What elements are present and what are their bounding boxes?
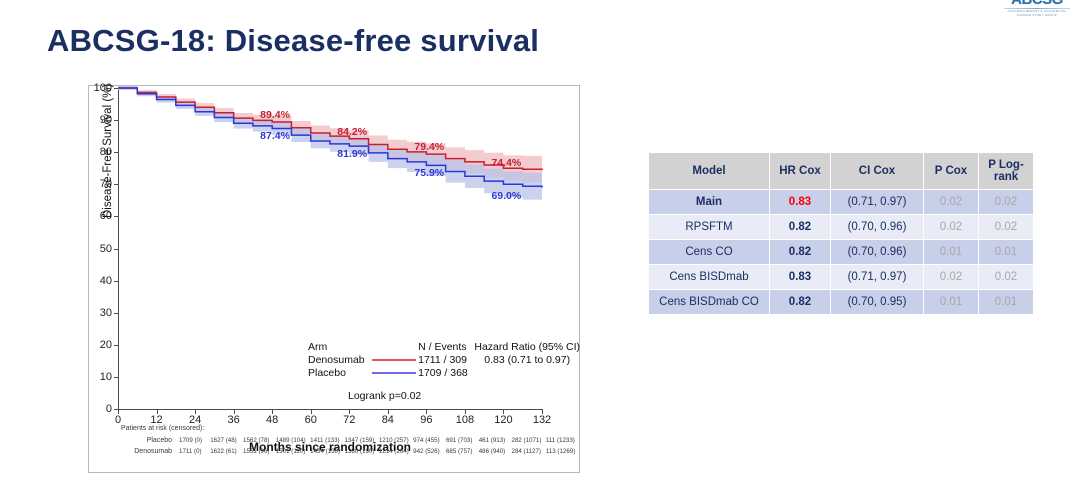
results-cell-hr: 0.83 <box>770 190 831 215</box>
results-cell-model: RPSFTM <box>649 215 770 240</box>
results-cell-hr: 0.82 <box>770 290 831 315</box>
x-tick-mark <box>465 409 466 414</box>
x-tick-mark <box>234 409 235 414</box>
results-header-cell: P Log-rank <box>979 153 1034 190</box>
results-cell-p-cox: 0.02 <box>924 190 979 215</box>
y-tick-mark <box>114 377 118 378</box>
y-tick-mark <box>114 281 118 282</box>
legend-header-arm: Arm <box>308 341 370 354</box>
logo-subtitle-line2: CANCER STUDY GROUP <box>1002 14 1072 17</box>
results-cell-p-logrank: 0.02 <box>979 265 1034 290</box>
results-header-cell: Model <box>649 153 770 190</box>
results-cell-hr: 0.83 <box>770 265 831 290</box>
risk-value: 1214 (264) <box>379 447 413 458</box>
results-cell-p-logrank: 0.02 <box>979 215 1034 240</box>
risk-row-label: Denosumab <box>121 447 179 458</box>
curve-annotation: 79.4% <box>414 141 444 153</box>
km-chart-panel: 0102030405060708090100 01224364860728496… <box>88 85 580 473</box>
y-tick-label: 0 <box>106 403 112 415</box>
x-tick-mark <box>195 409 196 414</box>
y-tick-mark <box>114 152 118 153</box>
risk-value: 1562 (78) <box>243 436 276 447</box>
results-header-cell: P Cox <box>924 153 979 190</box>
results-cell-p-cox: 0.02 <box>924 215 979 240</box>
risk-value: 974 (455) <box>413 436 446 447</box>
legend-label-placebo: Placebo <box>308 367 370 380</box>
risk-row-label: Placebo <box>121 436 179 447</box>
legend-header-swatch <box>370 341 418 354</box>
risk-value: 1434 (136) <box>310 447 344 458</box>
curve-annotation: 74.4% <box>491 157 521 169</box>
legend-n-placebo: 1709 / 368 <box>418 367 474 380</box>
legend-n-denosumab: 1711 / 309 <box>418 354 474 367</box>
risk-value: 1380 (190) <box>344 447 378 458</box>
risk-value: 1709 (0) <box>179 436 210 447</box>
x-tick-mark <box>503 409 504 414</box>
results-cell-p-logrank: 0.01 <box>979 240 1034 265</box>
risk-value: 461 (913) <box>479 436 512 447</box>
risk-value: 111 (1233) <box>546 436 580 447</box>
results-cell-ci: (0.70, 0.96) <box>831 240 924 265</box>
results-cell-hr: 0.82 <box>770 240 831 265</box>
curve-annotation: 81.9% <box>337 148 367 160</box>
patients-at-risk-table: Patients at risk (censored): Placebo1709… <box>121 424 580 458</box>
legend-hr-denosumab: 0.83 (0.71 to 0.97) <box>474 354 580 367</box>
results-table-body: Main0.83(0.71, 0.97)0.020.02RPSFTM0.82(0… <box>649 190 1034 315</box>
results-cell-model: Main <box>649 190 770 215</box>
results-cell-p-cox: 0.01 <box>924 240 979 265</box>
logrank-pvalue: Logrank p=0.02 <box>348 390 421 402</box>
curve-annotation: 84.2% <box>337 126 367 138</box>
risk-value: 1622 (61) <box>210 447 243 458</box>
risk-value: 1627 (48) <box>210 436 243 447</box>
risk-value: 691 (703) <box>446 436 479 447</box>
legend-header-n-events: N / Events <box>418 341 474 354</box>
legend-row-denosumab: Denosumab 1711 / 309 0.83 (0.71 to 0.97) <box>308 354 580 367</box>
risk-value: 113 (1269) <box>546 447 580 458</box>
x-tick-mark <box>118 409 119 414</box>
risk-value: 1411 (133) <box>310 436 344 447</box>
results-row: Cens BISDmab0.83(0.71, 0.97)0.020.02 <box>649 265 1034 290</box>
legend-swatch-placebo <box>370 367 418 380</box>
risk-value: 1347 (159) <box>344 436 378 447</box>
results-row: RPSFTM0.82(0.70, 0.96)0.020.02 <box>649 215 1034 240</box>
x-tick-mark <box>272 409 273 414</box>
results-cell-model: Cens BISDmab <box>649 265 770 290</box>
legend-label-denosumab: Denosumab <box>308 354 370 367</box>
legend-row-placebo: Placebo 1709 / 368 <box>308 367 580 380</box>
results-cell-ci: (0.70, 0.96) <box>831 215 924 240</box>
y-tick-label: 40 <box>100 275 112 287</box>
results-header-cell: CI Cox <box>831 153 924 190</box>
results-cell-p-logrank: 0.01 <box>979 290 1034 315</box>
risk-value: 486 (940) <box>479 447 512 458</box>
y-tick-mark <box>114 345 118 346</box>
results-cell-model: Cens BISDmab CO <box>649 290 770 315</box>
patients-at-risk-title: Patients at risk (censored): <box>121 424 580 435</box>
risk-value: 1501 (110) <box>276 447 310 458</box>
y-tick-mark <box>114 120 118 121</box>
results-cell-ci: (0.71, 0.97) <box>831 265 924 290</box>
y-tick-mark <box>114 216 118 217</box>
chart-legend: Arm N / Events Hazard Ratio (95% CI) Den… <box>308 341 580 380</box>
curve-annotation: 89.4% <box>260 109 290 121</box>
risk-value: 1711 (0) <box>179 447 210 458</box>
risk-value: 685 (757) <box>446 447 479 458</box>
y-tick-mark <box>114 249 118 250</box>
results-cell-p-logrank: 0.02 <box>979 190 1034 215</box>
results-cell-hr: 0.82 <box>770 215 831 240</box>
curve-annotation: 69.0% <box>491 190 521 202</box>
y-tick-mark <box>114 313 118 314</box>
results-cell-p-cox: 0.02 <box>924 265 979 290</box>
y-tick-label: 10 <box>100 371 112 383</box>
y-tick-label: 30 <box>100 307 112 319</box>
x-tick-mark <box>426 409 427 414</box>
y-tick-mark <box>114 184 118 185</box>
risk-value: 1489 (104) <box>276 436 310 447</box>
results-cell-model: Cens CO <box>649 240 770 265</box>
plot-area: 0102030405060708090100 01224364860728496… <box>118 88 580 416</box>
y-tick-label: 50 <box>100 243 112 255</box>
legend-swatch-denosumab <box>370 354 418 367</box>
risk-value: 1210 (257) <box>379 436 413 447</box>
curve-annotation: 75.9% <box>414 167 444 179</box>
risk-value: 282 (1071) <box>512 436 546 447</box>
results-cell-p-cox: 0.01 <box>924 290 979 315</box>
risk-row: Denosumab1711 (0)1622 (61)1551 (96)1501 … <box>121 447 580 458</box>
results-row: Main0.83(0.71, 0.97)0.020.02 <box>649 190 1034 215</box>
y-axis-label: Disease-Free Survival (%) <box>102 84 114 218</box>
legend-header-hazard-ratio: Hazard Ratio (95% CI) <box>474 341 580 354</box>
risk-value: 284 (1127) <box>512 447 546 458</box>
results-row: Cens CO0.82(0.70, 0.96)0.010.01 <box>649 240 1034 265</box>
results-cell-ci: (0.71, 0.97) <box>831 190 924 215</box>
results-header-cell: HR Cox <box>770 153 831 190</box>
page-title: ABCSG-18: Disease-free survival <box>47 23 539 59</box>
curve-annotation: 87.4% <box>260 130 290 142</box>
abcsg-logo: ABCSG AUSTRIAN BREAST & COLORECTAL CANCE… <box>1002 0 1072 18</box>
risk-value: 1551 (96) <box>243 447 276 458</box>
y-tick-label: 20 <box>100 339 112 351</box>
results-cell-ci: (0.70, 0.95) <box>831 290 924 315</box>
logo-wordmark: ABCSG <box>1002 0 1072 7</box>
y-tick-mark <box>114 88 118 89</box>
legend-hr-placebo <box>474 367 580 380</box>
x-tick-mark <box>349 409 350 414</box>
x-tick-mark <box>542 409 543 414</box>
risk-row: Placebo1709 (0)1627 (48)1562 (78)1489 (1… <box>121 436 580 447</box>
results-row: Cens BISDmab CO0.82(0.70, 0.95)0.010.01 <box>649 290 1034 315</box>
x-tick-mark <box>388 409 389 414</box>
risk-value: 942 (526) <box>413 447 446 458</box>
results-table-header-row: ModelHR CoxCI CoxP CoxP Log-rank <box>649 153 1034 190</box>
x-tick-mark <box>311 409 312 414</box>
results-table: ModelHR CoxCI CoxP CoxP Log-rank Main0.8… <box>648 152 1034 315</box>
x-tick-mark <box>157 409 158 414</box>
